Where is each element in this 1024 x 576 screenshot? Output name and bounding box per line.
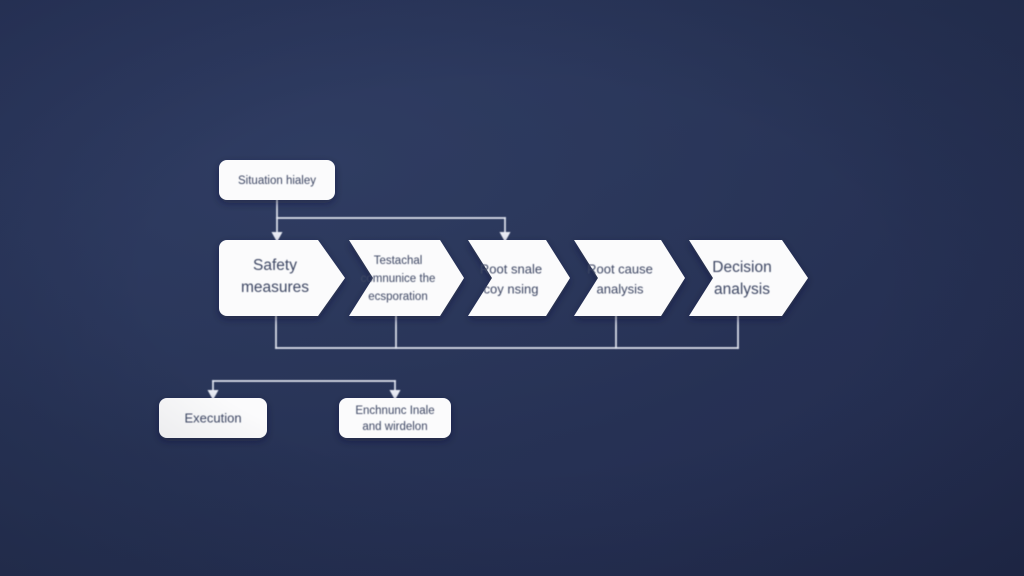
node-step1[interactable] <box>219 240 345 316</box>
step5-label-line2: analysis <box>714 281 770 298</box>
step2-label-line3: ecsporation <box>368 291 427 303</box>
enhancing-label-line2: and wirdelon <box>362 421 427 433</box>
step3-chevron[interactable] <box>468 240 570 316</box>
situation-label: Situation hialey <box>238 175 316 187</box>
step2-label-line2: comnunice the <box>361 273 436 285</box>
conn-situation-branch <box>500 218 511 242</box>
step4-label-line1: Root cause <box>587 261 653 276</box>
conn-bus-enhancing <box>390 381 401 400</box>
node-step3[interactable] <box>468 240 570 316</box>
execution-label-line1: Execution <box>184 410 241 425</box>
conn-situation-trunk <box>272 200 506 242</box>
step3-label-line2: coy nsing <box>484 281 539 296</box>
step5-label-line1: Decision <box>712 259 771 276</box>
step4-chevron[interactable] <box>574 240 685 316</box>
node-step5[interactable] <box>689 240 808 316</box>
step1-chevron[interactable] <box>219 240 345 316</box>
enhancing-label-line1: Enchnunc Inale <box>355 405 434 417</box>
node-step4[interactable] <box>574 240 685 316</box>
diagram-canvas: Situation hialey Safety measures Testach… <box>0 0 1024 576</box>
step5-chevron[interactable] <box>689 240 808 316</box>
step1-label-line1: Safety <box>253 257 297 274</box>
step4-label-line2: analysis <box>597 281 644 296</box>
step3-label-line1: Root snale <box>480 261 542 276</box>
step1-label-line2: measures <box>241 279 309 296</box>
flowchart-svg: Situation hialey Safety measures Testach… <box>0 0 1024 576</box>
step2-label-line1: Testachal <box>374 255 423 267</box>
process-chain: Safety measures Testachal comnunice the … <box>219 240 808 316</box>
conn-bus-execution <box>208 381 219 400</box>
